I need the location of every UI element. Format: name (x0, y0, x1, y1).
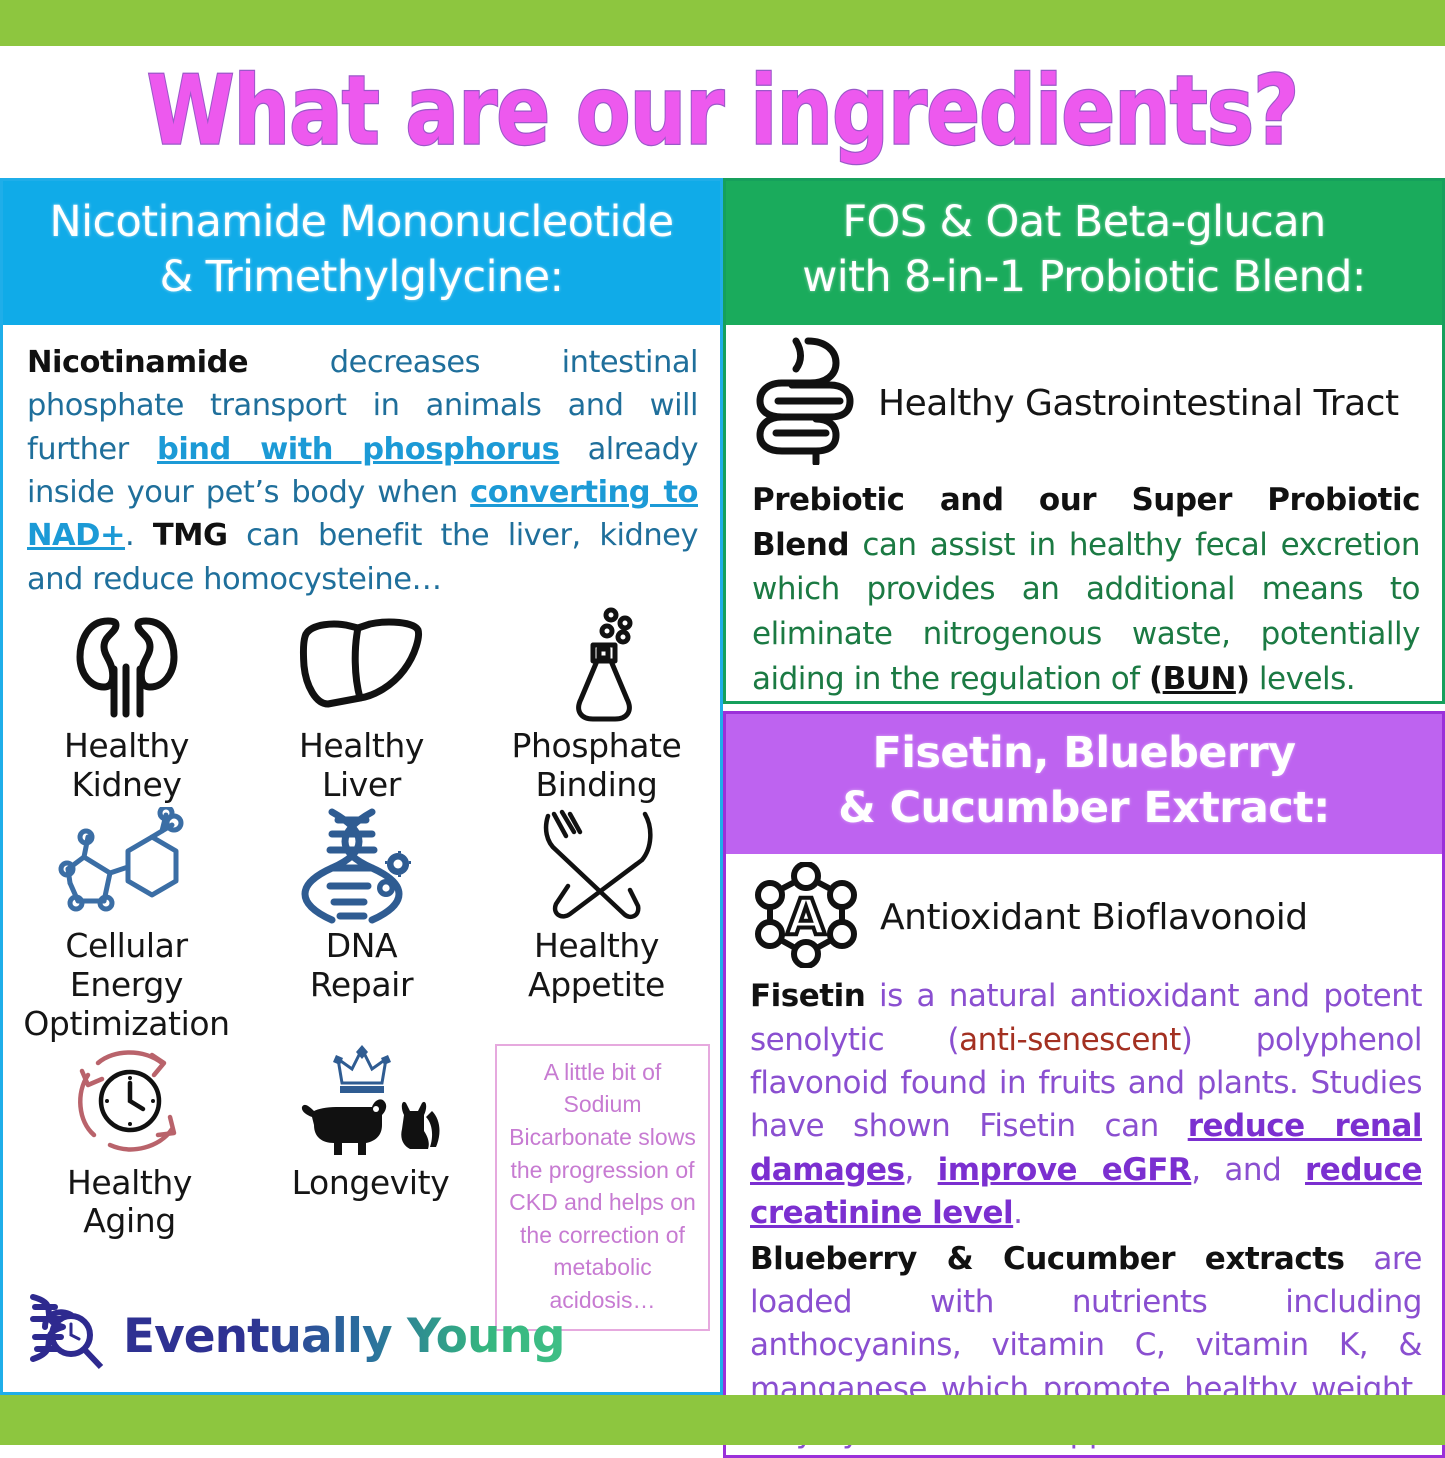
improve-egfr-link[interactable]: improve eGFR (938, 1152, 1192, 1188)
gi-feature-label: Healthy Gastrointestinal Tract (878, 383, 1399, 424)
purple-text-4: , and (1191, 1152, 1305, 1188)
benefit-kidney: Healthy Kidney (9, 607, 244, 805)
blueberry-cucumber-bold: Blueberry & Cucumber extracts (750, 1241, 1345, 1277)
molecule-icon (9, 807, 244, 925)
fisetin-body: Fisetin is a natural antioxidant and pot… (726, 973, 1442, 1454)
benefit-dna-line2: Repair (244, 966, 479, 1005)
top-green-band (0, 0, 1445, 46)
benefit-longevity: Longevity (250, 1044, 491, 1203)
benefit-aging-line1: Healthy (9, 1164, 250, 1203)
antioxidant-feature-label: Antioxidant Bioflavonoid (880, 897, 1308, 938)
benefit-kidney-line1: Healthy (9, 727, 244, 766)
fisetin-header-line2: & Cucumber Extract: (744, 781, 1424, 836)
benefit-appetite-line2: Appetite (479, 966, 714, 1005)
benefit-liver-line1: Healthy (244, 727, 479, 766)
tmg-bold: TMG (153, 518, 228, 553)
benefit-cellular-line2: Optimization (9, 1005, 244, 1044)
benefit-liver-line2: Liver (244, 766, 479, 805)
purple-text-3: , (905, 1152, 938, 1188)
antioxidant-hexagon-icon: A (754, 862, 858, 973)
benefit-row-3: Healthy Aging (3, 1044, 720, 1331)
content-columns: Nicotinamide Mononucleotide & Trimethylg… (0, 178, 1445, 1395)
benefit-healthy-aging: Healthy Aging (9, 1044, 250, 1242)
nmn-tmg-header-line1: Nicotinamide Mononucleotide (21, 195, 702, 250)
bottom-green-band (0, 1395, 1445, 1445)
benefit-longevity-line1: Longevity (250, 1164, 491, 1203)
benefit-cellular-line1: Cellular Energy (9, 927, 244, 1005)
fisetin-header: Fisetin, Blueberry & Cucumber Extract: (726, 714, 1442, 854)
gi-feature-row: Healthy Gastrointestinal Tract (726, 325, 1442, 472)
bun-paren-close: ) (1236, 661, 1250, 697)
clock-recycle-icon (9, 1044, 250, 1162)
bun-underline: BUN (1163, 661, 1236, 697)
benefit-aging-line2: Aging (9, 1202, 250, 1241)
dna-magnifier-clock-icon (21, 1293, 109, 1380)
brand-name: Eventually Young (123, 1309, 565, 1364)
purple-text-5: . (1013, 1195, 1022, 1231)
flask-icon (479, 607, 714, 725)
benefit-kidney-line2: Kidney (9, 766, 244, 805)
benefit-appetite: Healthy Appetite (479, 807, 714, 1044)
page-title: What are our ingredients? (147, 57, 1299, 167)
benefit-appetite-line1: Healthy (479, 927, 714, 966)
liver-icon (244, 607, 479, 725)
sodium-bicarbonate-note: A little bit of Sodium Bicarbonate slows… (495, 1044, 710, 1331)
nmn-tmg-body: Nicotinamide decreases intestinal phosph… (3, 325, 720, 601)
benefit-dna-line1: DNA (244, 927, 479, 966)
svg-text:A: A (787, 888, 826, 946)
intestine-icon (752, 337, 860, 470)
nicotinamide-bold: Nicotinamide (27, 345, 248, 380)
crown-pets-icon (250, 1044, 491, 1162)
bun-paren-open: ( (1149, 661, 1163, 697)
benefit-phosphate: Phosphate Binding (479, 607, 714, 805)
nmn-tmg-header-line2: & Trimethylglycine: (21, 250, 702, 305)
nmn-tmg-header: Nicotinamide Mononucleotide & Trimethylg… (3, 181, 720, 325)
fisetin-bold: Fisetin (750, 978, 865, 1014)
right-column: FOS & Oat Beta-glucan with 8-in-1 Probio… (723, 178, 1445, 1395)
fos-header-line2: with 8-in-1 Probiotic Blend: (744, 250, 1424, 305)
kidney-icon (9, 607, 244, 725)
left-column: Nicotinamide Mononucleotide & Trimethylg… (0, 178, 723, 1395)
anti-senescent-text: anti-senescent (959, 1022, 1181, 1058)
title-banner: What are our ingredients? (0, 46, 1445, 178)
benefit-dna-repair: DNA Repair (244, 807, 479, 1044)
nmn-tmg-panel: Nicotinamide Mononucleotide & Trimethylg… (0, 178, 723, 1395)
fisetin-panel: Fisetin, Blueberry & Cucumber Extract: (723, 711, 1445, 1457)
fos-header-line1: FOS & Oat Beta-glucan (744, 195, 1424, 250)
bind-phosphorus-link[interactable]: bind with phosphorus (157, 432, 559, 467)
benefit-phosphate-line1: Phosphate (479, 727, 714, 766)
benefit-liver: Healthy Liver (244, 607, 479, 805)
benefit-phosphate-line2: Binding (479, 766, 714, 805)
benefit-cellular-energy: Cellular Energy Optimization (9, 807, 244, 1044)
fisetin-header-line1: Fisetin, Blueberry (744, 726, 1424, 781)
antioxidant-feature-row: A Antioxidant Bioflavonoid (726, 854, 1442, 973)
bun-group: (BUN) (1149, 661, 1250, 697)
nmn-text-3: . (125, 518, 153, 553)
fork-knife-icon (479, 807, 714, 925)
brand-logo: Eventually Young (21, 1293, 565, 1380)
fisetin-paragraph-1: Fisetin is a natural antioxidant and pot… (750, 975, 1422, 1235)
fos-probiotic-body: Prebiotic and our Super Probiotic Blend … (726, 472, 1442, 701)
dna-gears-icon (244, 807, 479, 925)
green-text-2: levels. (1250, 661, 1356, 697)
benefit-icon-grid: Healthy Kidney Healthy (3, 601, 720, 1044)
fos-probiotic-header: FOS & Oat Beta-glucan with 8-in-1 Probio… (726, 181, 1442, 325)
fos-probiotic-panel: FOS & Oat Beta-glucan with 8-in-1 Probio… (723, 178, 1445, 704)
